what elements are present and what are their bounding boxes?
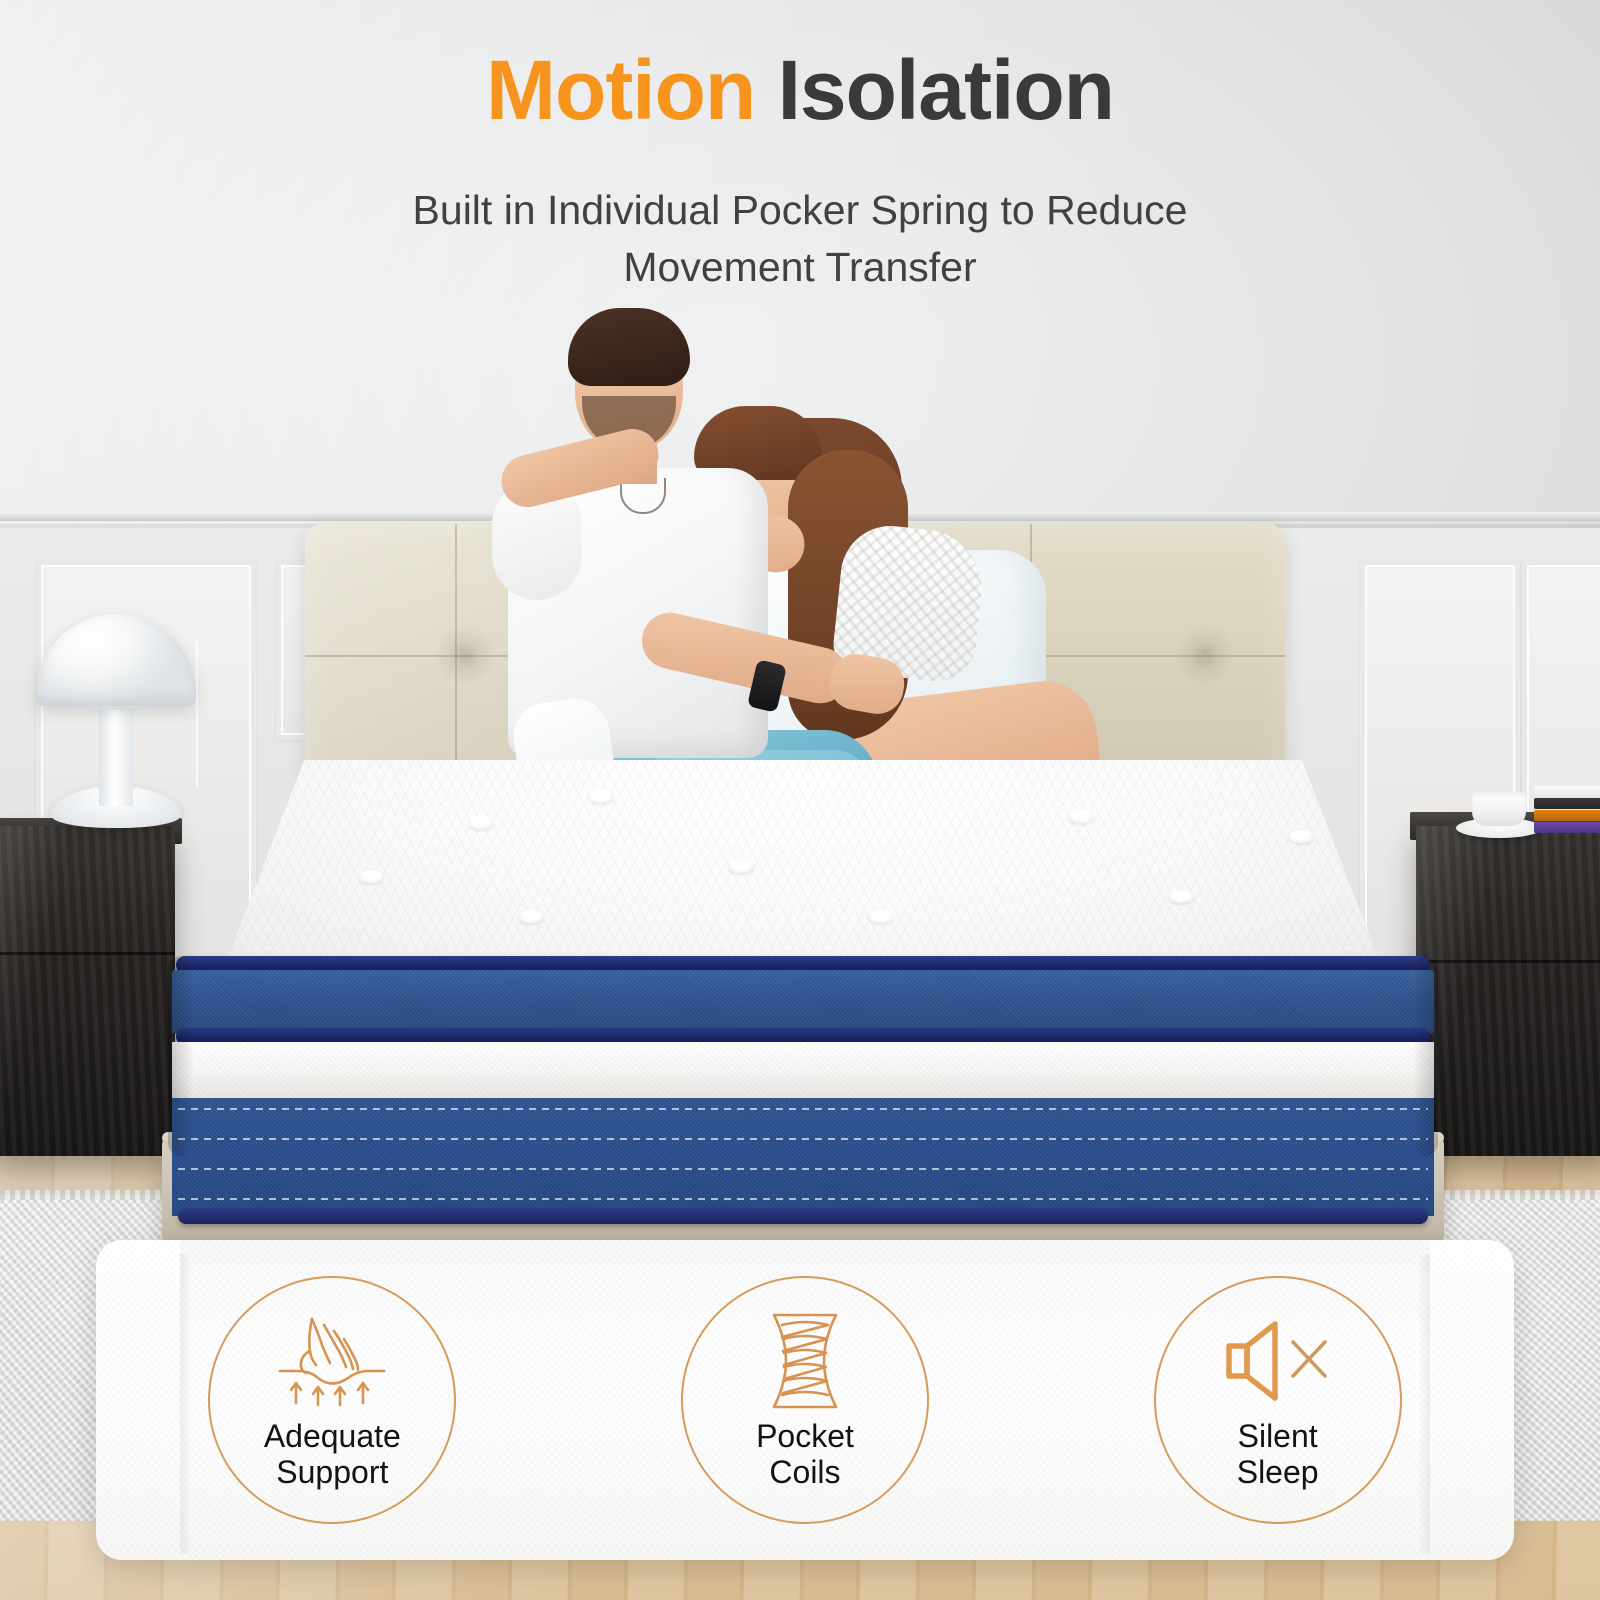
left-nightstand-drawer-seam	[0, 952, 175, 955]
mattress-tuft	[728, 860, 754, 873]
muted-speaker-icon	[1219, 1309, 1337, 1413]
headline-main-word: Isolation	[778, 43, 1114, 137]
coffee-cup-icon	[1472, 792, 1526, 826]
hand-pressing-surface-icon	[268, 1309, 396, 1413]
mattress-right-edge	[1412, 956, 1438, 1156]
hybrid-mattress	[168, 760, 1438, 1160]
mattress-stitch-line	[178, 1138, 1428, 1140]
feature-badge-label: Silent Sleep	[1237, 1419, 1319, 1491]
mattress-stitch-line	[178, 1108, 1428, 1110]
mattress-tuft	[1288, 830, 1314, 843]
feature-badge-adequate-support[interactable]: Adequate Support	[208, 1276, 456, 1524]
mattress-quilted-top	[223, 760, 1383, 970]
mattress-stitch-line	[178, 1198, 1428, 1200]
mattress-tuft	[1068, 810, 1094, 823]
book-item	[1534, 798, 1600, 809]
mattress-upper-blue-band	[172, 970, 1434, 1034]
mattress-tuft	[358, 870, 384, 883]
mattress-white-band	[172, 1042, 1434, 1100]
mattress-left-edge	[168, 956, 194, 1156]
mattress-stitch-line	[178, 1168, 1428, 1170]
mattress-bottom-piping	[178, 1208, 1428, 1224]
feature-badge-label: Pocket Coils	[756, 1419, 854, 1491]
book-item	[1534, 822, 1600, 833]
mattress-tuft	[588, 790, 614, 803]
subtitle-line-2: Movement Transfer	[300, 239, 1300, 296]
headline-accent-word: Motion	[486, 43, 755, 137]
page-title: Motion Isolation	[0, 48, 1600, 132]
mattress-tuft	[518, 910, 544, 923]
pocket-coil-spring-icon	[758, 1309, 852, 1413]
feature-badge-label: Adequate Support	[264, 1419, 401, 1491]
lamp-stem	[99, 700, 133, 806]
feature-badge-list: Adequate Support	[96, 1240, 1514, 1560]
book-item	[1534, 810, 1600, 821]
right-nightstand	[1416, 826, 1600, 1156]
book-item	[1534, 786, 1600, 797]
mattress-tuft	[868, 910, 894, 923]
mattress-tuft	[468, 816, 494, 829]
right-nightstand-drawer-seam	[1416, 960, 1600, 963]
left-nightstand	[0, 826, 175, 1156]
product-feature-image: Motion Isolation Built in Individual Poc…	[0, 0, 1600, 1600]
mattress-tuft	[1168, 890, 1194, 903]
man-hair	[568, 308, 690, 386]
feature-badge-silent-sleep[interactable]: Silent Sleep	[1154, 1276, 1402, 1524]
page-subtitle: Built in Individual Pocker Spring to Red…	[300, 182, 1300, 295]
feature-card: Adequate Support	[96, 1240, 1514, 1560]
headboard-tuft	[1170, 620, 1240, 690]
feature-badge-pocket-coils[interactable]: Pocket Coils	[681, 1276, 929, 1524]
stacked-books	[1534, 786, 1600, 832]
subtitle-line-1: Built in Individual Pocker Spring to Red…	[300, 182, 1300, 239]
